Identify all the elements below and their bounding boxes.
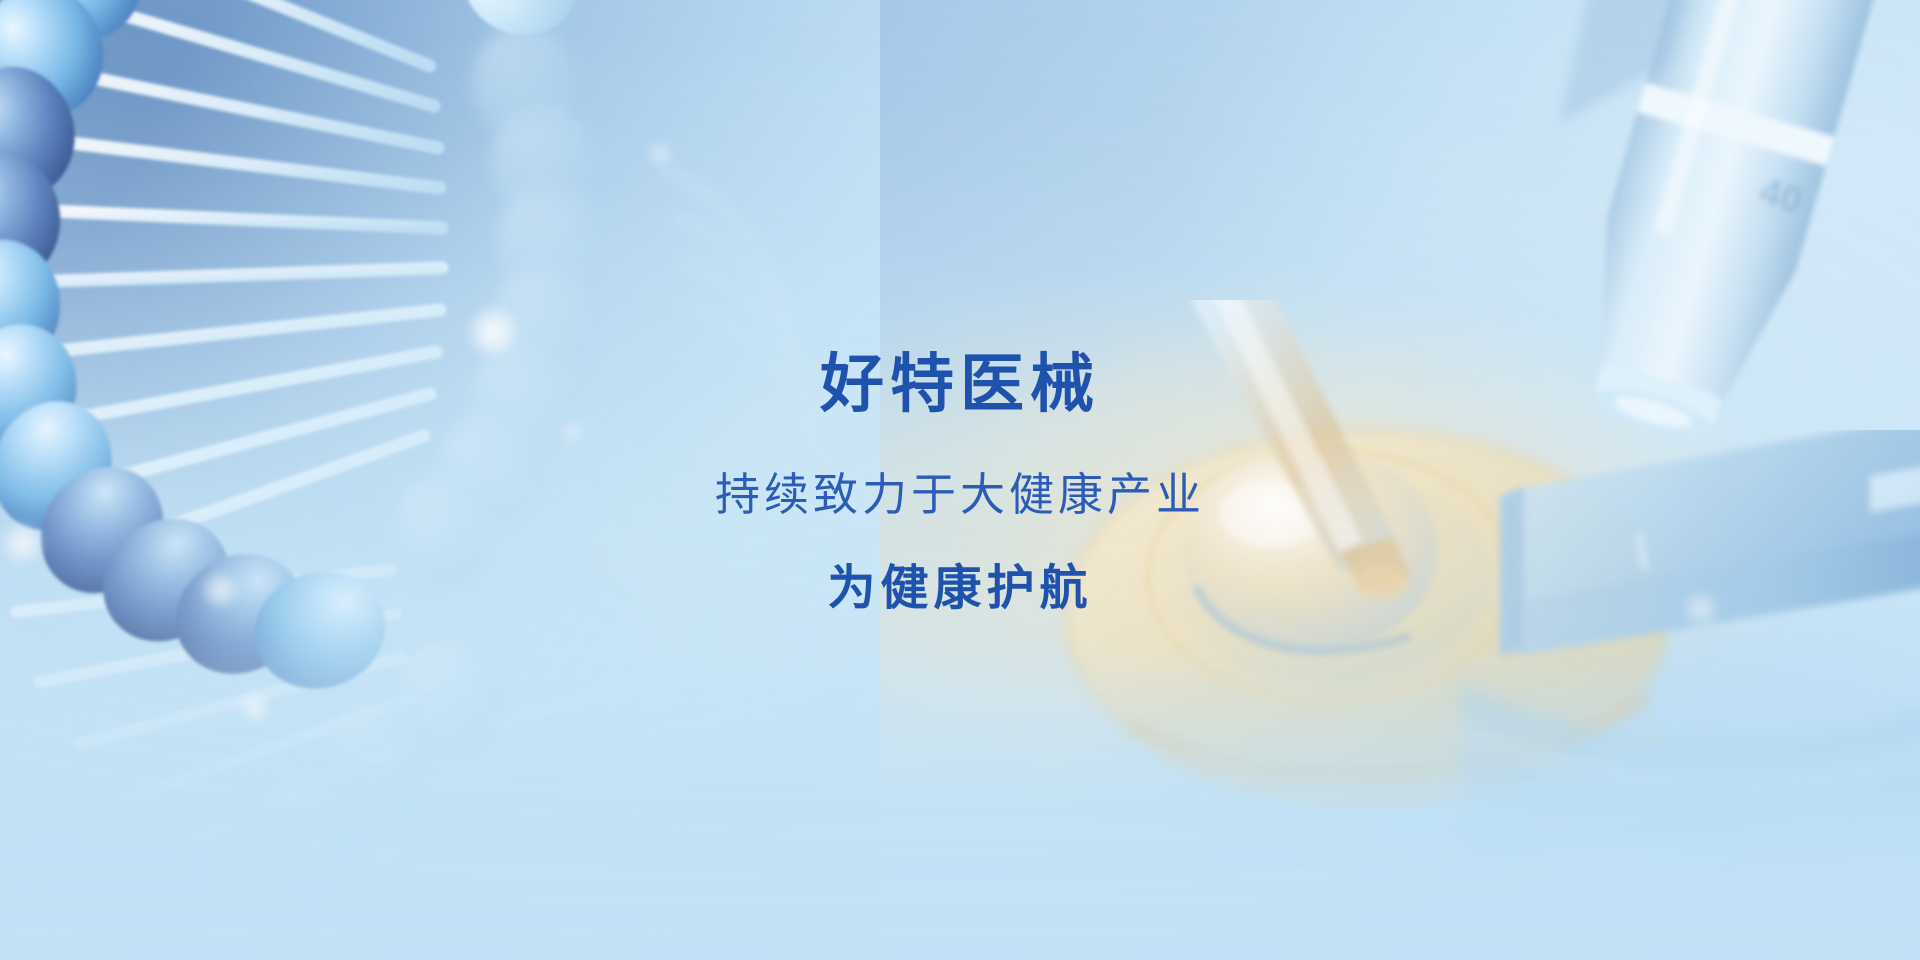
hero-subheading: 持续致力于大健康产业: [0, 472, 1920, 517]
hero-copy-block: 好特医械 持续致力于大健康产业 为健康护航: [0, 352, 1920, 613]
medical-hero-banner: 40: [0, 0, 1920, 960]
bokeh-dot: [646, 140, 674, 168]
bokeh-dot: [238, 690, 272, 724]
hero-tagline: 为健康护航: [0, 565, 1920, 613]
page-title: 好特医械: [0, 352, 1920, 416]
background-bottom-fade: [0, 640, 1920, 960]
bokeh-dot: [466, 305, 520, 359]
